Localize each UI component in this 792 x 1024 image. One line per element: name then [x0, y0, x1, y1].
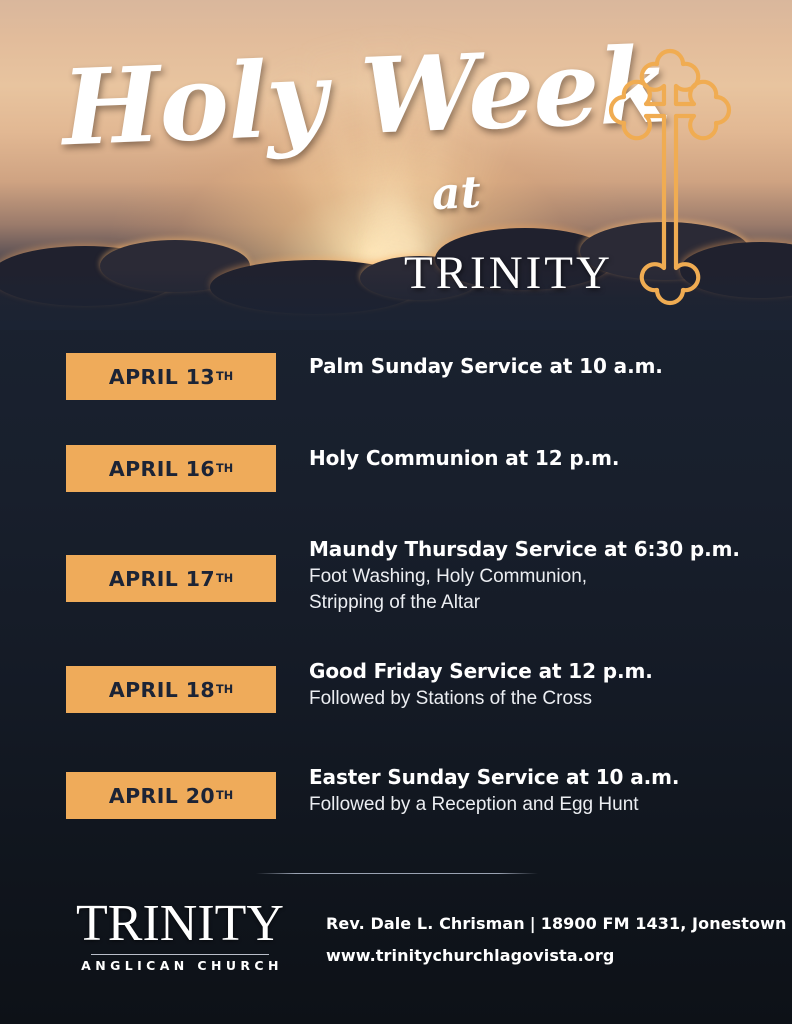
logo-tagline: ANGLICAN CHURCH — [64, 958, 296, 973]
pastor-name: Rev. Dale L. Chrisman — [326, 914, 525, 933]
contact-line-primary: Rev. Dale L. Chrisman|18900 FM 1431, Jon… — [326, 914, 786, 933]
footer-divider — [256, 873, 538, 874]
footer-contact: Rev. Dale L. Chrisman|18900 FM 1431, Jon… — [326, 914, 786, 965]
event-title: Holy Communion at 12 p.m. — [309, 446, 792, 472]
logo-rule — [91, 954, 269, 955]
date-badge: APRIL 13TH — [66, 353, 276, 400]
event-text: Palm Sunday Service at 10 a.m. — [276, 353, 792, 380]
church-logo: TRINITY ANGLICAN CHURCH — [64, 898, 296, 973]
event-row: APRIL 16TH Holy Communion at 12 p.m. — [0, 445, 792, 492]
logo-wordmark: TRINITY — [64, 898, 296, 950]
event-row: APRIL 18TH Good Friday Service at 12 p.m… — [0, 658, 792, 713]
date-badge-label: APRIL 18 — [109, 678, 215, 702]
event-title: Palm Sunday Service at 10 a.m. — [309, 354, 792, 380]
event-title: Good Friday Service at 12 p.m. — [309, 659, 792, 685]
contact-separator: | — [525, 914, 541, 933]
event-text: Good Friday Service at 12 p.m. Followed … — [276, 658, 792, 711]
event-row: APRIL 17TH Maundy Thursday Service at 6:… — [0, 536, 792, 615]
budded-cross-icon — [580, 36, 760, 326]
event-text: Easter Sunday Service at 10 a.m. Followe… — [276, 764, 792, 817]
website-url[interactable]: www.trinitychurchlagovista.org — [326, 946, 786, 965]
date-badge-label: APRIL 16 — [109, 457, 215, 481]
event-row: APRIL 20TH Easter Sunday Service at 10 a… — [0, 764, 792, 819]
date-badge-label: APRIL 20 — [109, 784, 215, 808]
holy-week-flyer: Holy Week at TRINITY APRIL 13TH Palm Sun… — [0, 0, 792, 1024]
event-text: Holy Communion at 12 p.m. — [276, 445, 792, 472]
event-title: Easter Sunday Service at 10 a.m. — [309, 765, 792, 791]
event-detail-line: Stripping of the Altar — [309, 590, 792, 615]
page-title: Holy Week — [60, 38, 603, 158]
date-badge: APRIL 18TH — [66, 666, 276, 713]
event-title: Maundy Thursday Service at 6:30 p.m. — [309, 537, 792, 563]
event-detail-line: Followed by a Reception and Egg Hunt — [309, 792, 792, 817]
date-badge-label: APRIL 13 — [109, 365, 215, 389]
title-connector: at — [431, 167, 482, 220]
event-detail-line: Foot Washing, Holy Communion, — [309, 564, 792, 589]
church-address: 18900 FM 1431, Jonestown — [541, 914, 787, 933]
event-detail-line: Followed by Stations of the Cross — [309, 686, 792, 711]
date-badge: APRIL 16TH — [66, 445, 276, 492]
date-badge: APRIL 17TH — [66, 555, 276, 602]
event-text: Maundy Thursday Service at 6:30 p.m. Foo… — [276, 536, 792, 615]
date-badge-label: APRIL 17 — [109, 567, 215, 591]
date-badge: APRIL 20TH — [66, 772, 276, 819]
event-row: APRIL 13TH Palm Sunday Service at 10 a.m… — [0, 353, 792, 400]
